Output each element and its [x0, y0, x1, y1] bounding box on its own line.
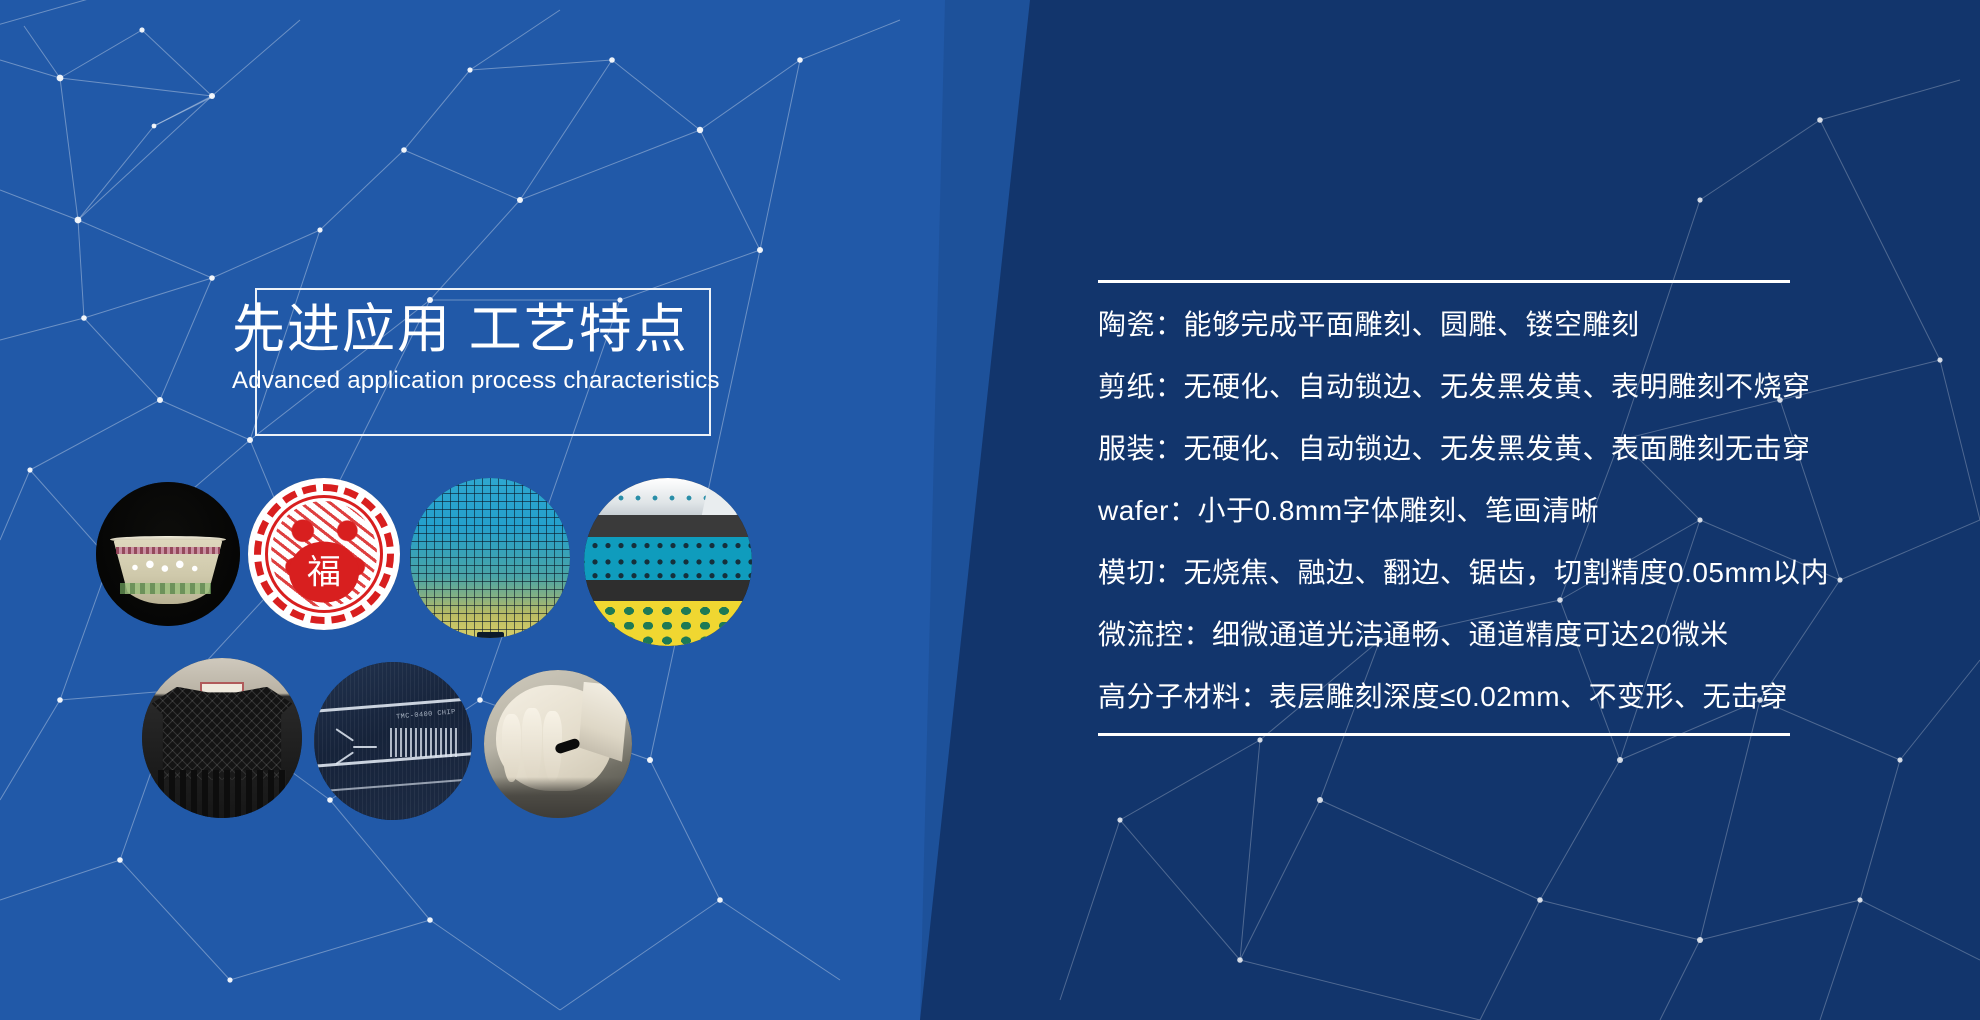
band-dark-upper: [584, 515, 752, 537]
ceramic-bowl-photo: [96, 482, 240, 626]
page-subtitle: Advanced application process characteris…: [232, 367, 752, 395]
silicon-wafer-photo: [410, 478, 570, 638]
band-yellow-array: [584, 601, 752, 646]
gallery-image-polymer-handling[interactable]: [484, 670, 632, 818]
feature-list-panel: 陶瓷：能够完成平面雕刻、圆雕、镂空雕刻 剪纸：无硬化、自动锁边、无发黑发黄、表明…: [1098, 280, 1798, 736]
feature-item-diecut: 模切：无烧焦、融边、翻边、锯齿，切割精度0.05mm以内: [1098, 559, 1798, 587]
feature-item-ceramic: 陶瓷：能够完成平面雕刻、圆雕、镂空雕刻: [1098, 311, 1798, 339]
paper-cutting-photo: 福: [248, 478, 400, 630]
gallery-image-device-bands[interactable]: [584, 478, 752, 646]
title-block: 先进应用 工艺特点 Advanced application process c…: [232, 300, 752, 395]
divider-bottom: [1098, 733, 1790, 736]
feature-list: 陶瓷：能够完成平面雕刻、圆雕、镂空雕刻 剪纸：无硬化、自动锁边、无发黑发黄、表明…: [1098, 311, 1798, 711]
wafer-notch: [477, 632, 504, 638]
bowl-engraved-motif: [125, 557, 209, 579]
device-bands-photo: [584, 478, 752, 646]
chip-y-junction: [336, 728, 377, 763]
image-gallery: 福: [96, 478, 856, 878]
photo-shadow: [484, 777, 632, 818]
microfluidic-chip-photo: TMC-0400 CHIP: [314, 662, 472, 820]
polymer-sheet: [579, 682, 629, 762]
wafer-die-grid: [410, 478, 570, 638]
divider-top: [1098, 280, 1790, 283]
gallery-image-microfluidic-chip[interactable]: TMC-0400 CHIP: [314, 662, 472, 820]
gallery-image-paper-cutting[interactable]: 福: [248, 478, 400, 630]
bowl-lower-band: [120, 583, 211, 595]
garment-perforation-pattern: [152, 687, 293, 780]
gallery-image-garment[interactable]: [142, 658, 302, 818]
slide-canvas: 先进应用 工艺特点 Advanced application process c…: [0, 0, 1980, 1020]
gallery-image-ceramic-bowl[interactable]: [96, 482, 240, 626]
band-dark-lower: [584, 580, 752, 600]
bowl-upper-band: [116, 547, 220, 554]
garment-fringe: [158, 770, 286, 818]
glove-finger-2: [522, 708, 541, 782]
garment-photo: [142, 658, 302, 818]
feature-item-papercut: 剪纸：无硬化、自动锁边、无发黑发黄、表明雕刻不烧穿: [1098, 373, 1798, 401]
feature-item-polymer: 高分子材料：表层雕刻深度≤0.02mm、不变形、无击穿: [1098, 683, 1798, 711]
gallery-image-silicon-wafer[interactable]: [410, 478, 570, 638]
chip-comb-array: [390, 728, 460, 756]
page-title: 先进应用 工艺特点: [232, 300, 752, 361]
fu-character: 福: [289, 542, 359, 603]
feature-item-microfluidic: 微流控：细微通道光洁通畅、通道精度可达20微米: [1098, 621, 1798, 649]
band-corner-notch: [702, 485, 742, 515]
feature-item-apparel: 服装：无硬化、自动锁边、无发黑发黄、表面雕刻无击穿: [1098, 435, 1798, 463]
band-teal-via-rows: [584, 537, 752, 581]
gloved-hand-photo: [484, 670, 632, 818]
feature-item-wafer: wafer：小于0.8mm字体雕刻、笔画清晰: [1098, 497, 1798, 525]
